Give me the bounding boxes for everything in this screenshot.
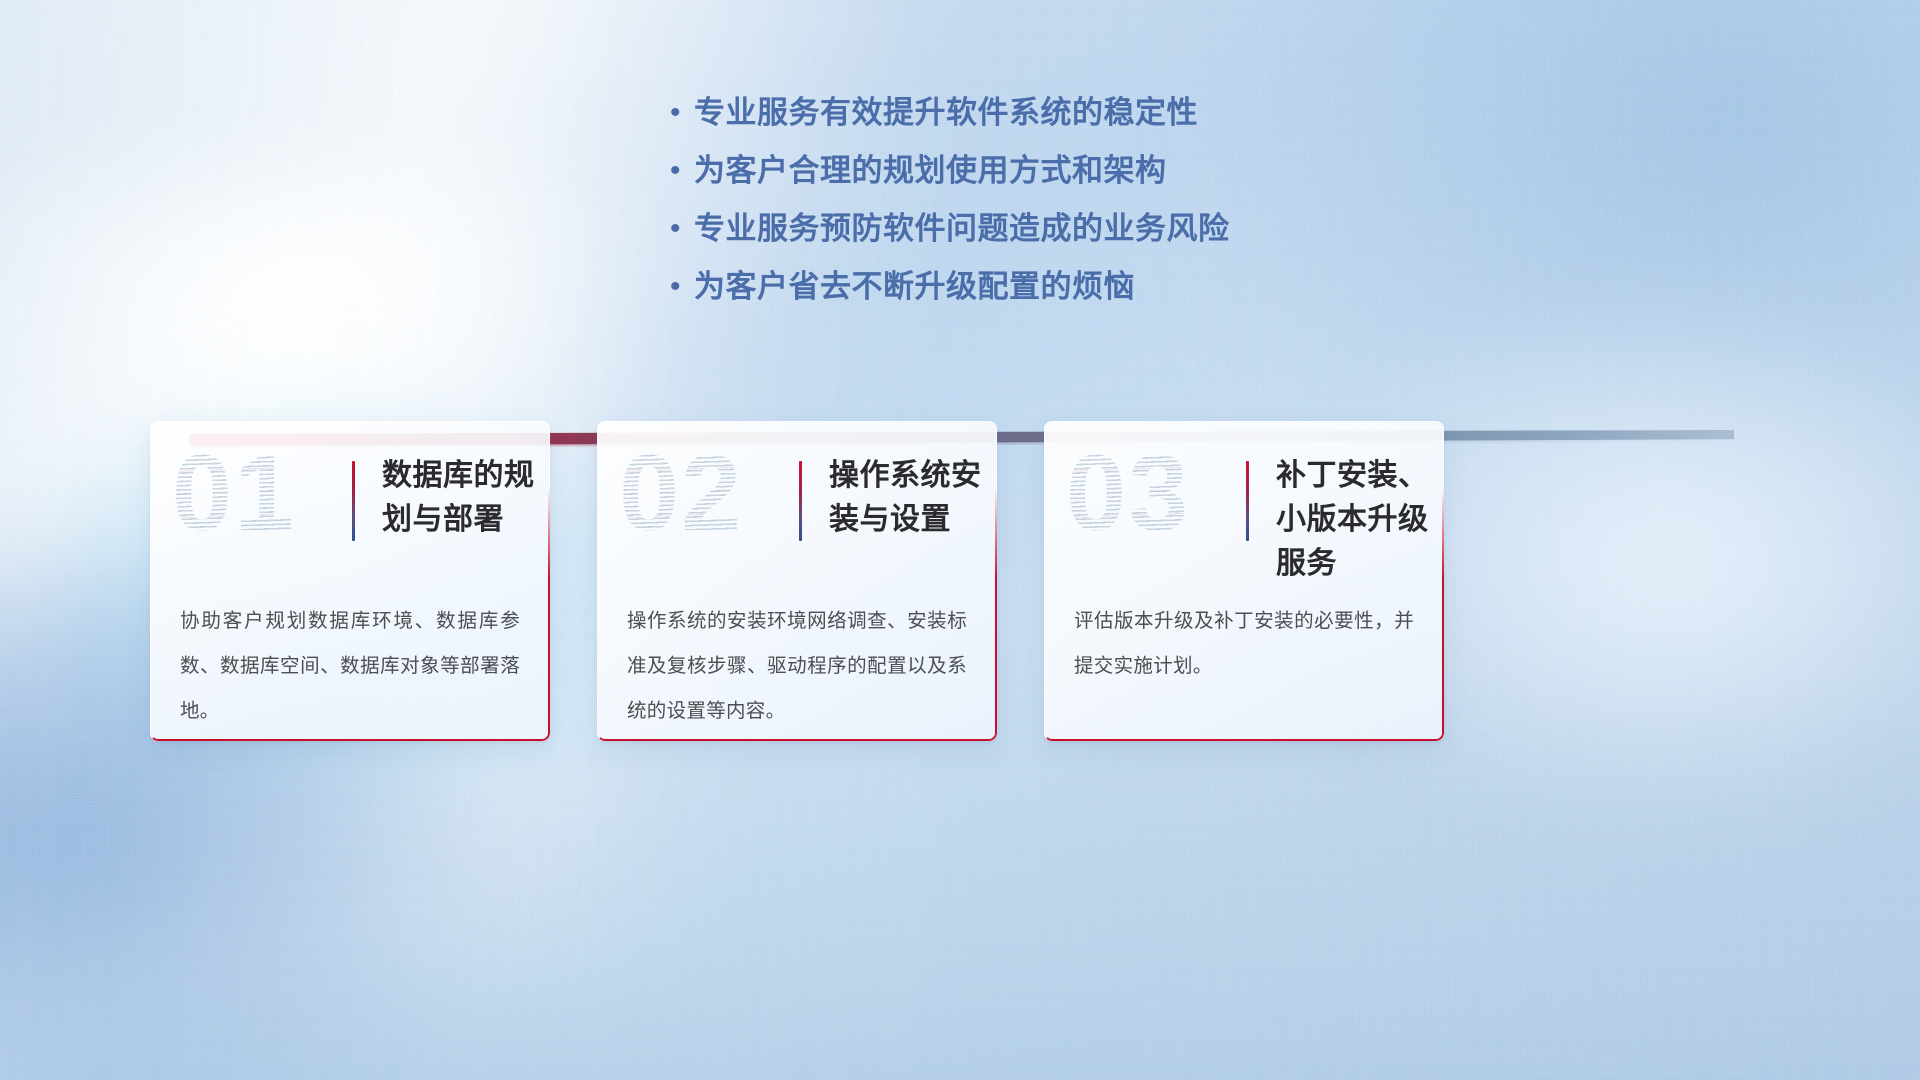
- card-body-text: 操作系统的安装环境网络调查、安装标准及复核步骤、驱动程序的配置以及系统的设置等内…: [627, 599, 967, 734]
- bullet-text: 专业服务预防软件问题造成的业务风险: [694, 210, 1230, 248]
- card-title-rule: [799, 461, 802, 541]
- list-item: • 为客户省去不断升级配置的烦恼: [664, 268, 1444, 306]
- benefits-bullet-list: • 专业服务有效提升软件系统的稳定性 • 为客户合理的规划使用方式和架构 • 专…: [664, 94, 1444, 326]
- bullet-dot-icon: •: [664, 210, 694, 248]
- card-number-watermark: 01: [172, 439, 296, 547]
- card-number-watermark: 02: [619, 439, 743, 547]
- bullet-dot-icon: •: [664, 268, 694, 306]
- service-card-02[interactable]: 02 02 操作系统安装与设置 操作系统的安装环境网络调查、安装标准及复核步骤、…: [597, 421, 997, 741]
- card-header: 03 03 补丁安装、小版本升级服务: [1044, 421, 1444, 586]
- service-card-group: 01 01 数据库的规划与部署 协助客户规划数据库环境、数据库参数、数据库空间、…: [150, 421, 1770, 741]
- service-card-03[interactable]: 03 03 补丁安装、小版本升级服务 评估版本升级及补丁安装的必要性，并提交实施…: [1044, 421, 1444, 741]
- bullet-dot-icon: •: [664, 152, 694, 190]
- bullet-dot-icon: •: [664, 94, 694, 132]
- card-title: 操作系统安装与设置: [829, 454, 989, 542]
- card-title: 数据库的规划与部署: [382, 454, 542, 542]
- list-item: • 专业服务预防软件问题造成的业务风险: [664, 210, 1444, 248]
- bullet-text: 专业服务有效提升软件系统的稳定性: [694, 94, 1198, 132]
- card-body-text: 协助客户规划数据库环境、数据库参数、数据库空间、数据库对象等部署落地。: [180, 599, 520, 734]
- service-card-01[interactable]: 01 01 数据库的规划与部署 协助客户规划数据库环境、数据库参数、数据库空间、…: [150, 421, 550, 741]
- card-header: 02 02 操作系统安装与设置: [597, 421, 997, 586]
- list-item: • 专业服务有效提升软件系统的稳定性: [664, 94, 1444, 132]
- card-title: 补丁安装、小版本升级服务: [1276, 454, 1436, 586]
- bullet-text: 为客户省去不断升级配置的烦恼: [694, 268, 1135, 306]
- card-body-text: 评估版本升级及补丁安装的必要性，并提交实施计划。: [1074, 599, 1414, 689]
- card-number-watermark: 03: [1066, 439, 1190, 547]
- bullet-text: 为客户合理的规划使用方式和架构: [694, 152, 1167, 190]
- list-item: • 为客户合理的规划使用方式和架构: [664, 152, 1444, 190]
- card-title-rule: [352, 461, 355, 541]
- card-title-rule: [1246, 461, 1249, 541]
- card-header: 01 01 数据库的规划与部署: [150, 421, 550, 586]
